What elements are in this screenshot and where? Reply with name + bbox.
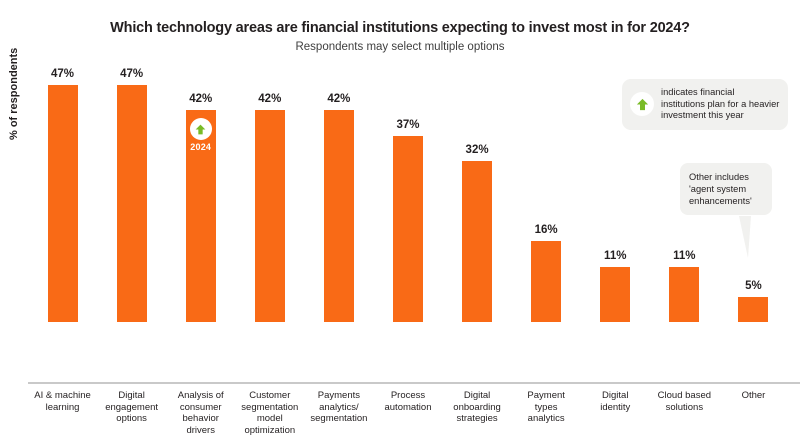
bar-value-label: 47% [120,68,143,80]
bar[interactable] [117,85,147,322]
bar-column: 42% [235,60,304,322]
bar[interactable] [324,110,354,322]
bar-value-label: 16% [535,224,558,236]
other-includes-tooltip: Other includes 'agent system enhancement… [680,163,772,215]
title-block: Which technology areas are financial ins… [0,20,800,55]
bar[interactable] [255,110,285,322]
bar[interactable] [48,85,78,322]
bar-column: 47% [28,60,97,322]
bar-value-label: 42% [189,93,212,105]
bar-value-label: 11% [673,250,695,262]
bar-column: 47% [97,60,166,322]
bar[interactable] [393,136,423,322]
bar-column: 42%2024 [166,60,235,322]
x-tick-label: Payments analytics/ segmentation [304,390,373,425]
bar-value-label: 37% [396,119,419,131]
bar-value-label: 42% [327,93,350,105]
page-title: Which technology areas are financial ins… [0,20,800,37]
chart-container: Which technology areas are financial ins… [0,0,800,400]
bar-column: 42% [304,60,373,322]
badge-year-label: 2024 [186,142,216,152]
bar-value-label: 11% [604,250,626,262]
bar-value-label: 47% [51,68,74,80]
bar-value-label: 5% [745,280,762,292]
x-tick-label: Payment types analytics [512,390,581,425]
x-tick-label: Process automation [373,390,442,413]
x-tick-label: Cloud based solutions [650,390,719,413]
x-tick-label: Customer segmentation model optimization [235,390,304,436]
tooltip-tail [739,216,751,258]
bar-column: 16% [512,60,581,322]
y-axis-title: % of respondents [8,0,20,140]
bar[interactable] [669,267,699,322]
bar-value-label: 42% [258,93,281,105]
x-tick-label: AI & machine learning [28,390,97,413]
investment-increase-badge: 2024 [186,118,216,152]
legend-callout: indicates financial institutions plan fo… [622,79,788,130]
up-arrow-icon [190,118,212,140]
legend-label: indicates financial institutions plan fo… [661,87,780,122]
bar[interactable] [531,241,561,322]
x-tick-label: Digital identity [581,390,650,413]
bar[interactable] [462,161,492,322]
x-tick-label: Analysis of consumer behavior drivers [166,390,235,436]
x-tick-label: Digital onboarding strategies [443,390,512,425]
bar-column: 32% [443,60,512,322]
x-axis-line [28,382,800,384]
bar[interactable] [738,297,768,322]
x-tick-label: Digital engagement options [97,390,166,425]
chart-subtitle: Respondents may select multiple options [0,41,800,55]
bar-column: 37% [373,60,442,322]
bar-value-label: 32% [466,144,489,156]
up-arrow-icon [630,92,654,116]
bar[interactable] [600,267,630,322]
